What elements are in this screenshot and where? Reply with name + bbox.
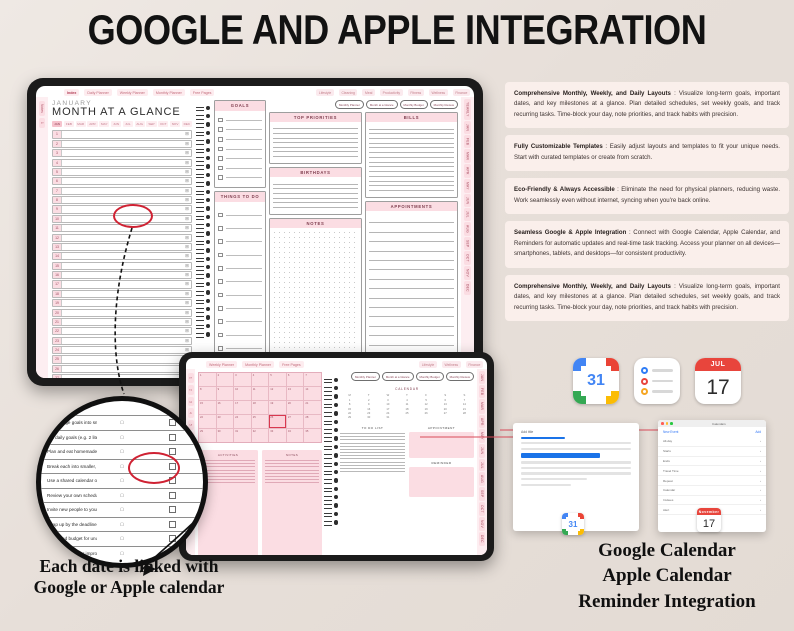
checkbox[interactable]: [218, 127, 223, 132]
checkbox[interactable]: [218, 293, 223, 298]
month-chip-feb[interactable]: FEB: [64, 121, 74, 127]
planner2-rail-page-4[interactable]: 4: [188, 408, 194, 418]
mini-cal-day[interactable]: [417, 416, 436, 420]
calendar-link-icon[interactable]: ⊞: [183, 206, 191, 212]
tab2-free-pages[interactable]: Free Pages: [279, 361, 304, 368]
month-chip-may[interactable]: MAY: [99, 121, 109, 127]
apple-logo-icon[interactable]: : [97, 507, 147, 512]
date-row[interactable]: 19⊞: [52, 299, 192, 307]
month-grid-cell[interactable]: 7: [304, 373, 321, 386]
month-grid-cell[interactable]: 18: [252, 401, 269, 414]
pill-month-at-a-glance[interactable]: Month at a Glance: [382, 372, 414, 381]
section-appointment[interactable]: APPOINTMENT: [409, 426, 474, 458]
date-row[interactable]: 26⊞: [52, 365, 192, 373]
date-row[interactable]: 24⊞: [52, 346, 192, 354]
apple-field-label: Repeat: [663, 479, 673, 483]
panel-things-to-do-body[interactable]: [215, 202, 265, 375]
tab-lifestyle[interactable]: Lifestyle: [316, 89, 334, 96]
apple-logo-icon[interactable]: : [97, 478, 147, 483]
tab-wellness[interactable]: Wellness: [429, 89, 448, 96]
month-grid-cell[interactable]: 13: [287, 387, 304, 400]
apple-field-row[interactable]: Starts›: [658, 447, 766, 457]
spiral-ring: [324, 437, 338, 441]
calendar-link-icon[interactable]: ⊞: [183, 319, 191, 325]
calendar-link-icon[interactable]: ⊞: [183, 263, 191, 269]
mini-calendar[interactable]: MTWTFSS123456789101112131415161718192021…: [340, 394, 474, 420]
month-tab-nov[interactable]: NOV: [479, 517, 485, 531]
month-grid-cell[interactable]: 6: [287, 373, 304, 386]
date-row-list: 1⊞2⊞3⊞4⊞5⊞6⊞7⊞8⊞9⊞10⊞11⊞12⊞13⊞14⊞15⊞16⊞1…: [52, 130, 192, 378]
apple-logo-icon[interactable]: : [97, 464, 147, 469]
ashot-close-icon[interactable]: [661, 422, 664, 425]
calendar-link-icon[interactable]: ⊞: [183, 310, 191, 316]
apple-field-value[interactable]: ›: [760, 479, 761, 483]
month-tab-mar[interactable]: MAR: [479, 399, 485, 413]
month-chip-jun[interactable]: JUN: [111, 121, 121, 127]
calendar-link-icon[interactable]: ⊞: [183, 281, 191, 287]
date-row[interactable]: 13⊞: [52, 243, 192, 251]
checklist-row[interactable]: [218, 333, 262, 338]
month-tab-apr[interactable]: APR: [464, 164, 470, 178]
checklist-row[interactable]: [218, 137, 262, 142]
magnified-task-row[interactable]: Wrap up by the deadline: [41, 517, 203, 532]
mini-cal-day[interactable]: [436, 416, 455, 420]
month-tab-may[interactable]: MAY: [479, 429, 485, 443]
month-chip-sep[interactable]: SEP: [146, 121, 156, 127]
month-tab-dec[interactable]: DEC: [479, 532, 485, 546]
mini-cal-day[interactable]: 29: [340, 416, 359, 420]
magnified-task-row[interactable]: Set daily goals (e.g. 2 liters) e.g. wat…: [41, 430, 203, 445]
spiral-ring: [324, 487, 338, 491]
month-grid-cell[interactable]: 5: [269, 373, 286, 386]
section-notes[interactable]: NOTES: [262, 450, 322, 555]
date-row[interactable]: 14⊞: [52, 252, 192, 260]
month-chip-aug[interactable]: AUG: [135, 121, 145, 127]
month-chip-jul[interactable]: JUL: [123, 121, 133, 127]
checkbox[interactable]: [218, 213, 223, 218]
pill-monthly-planner[interactable]: Monthly Planner: [335, 100, 364, 109]
month-chip-nov[interactable]: NOV: [170, 121, 180, 127]
tab2-lifestyle[interactable]: Lifestyle: [419, 361, 437, 368]
gshot-line-2: [521, 448, 631, 450]
date-row[interactable]: 16⊞: [52, 271, 192, 279]
checkbox[interactable]: [169, 477, 176, 484]
checkbox[interactable]: [169, 419, 176, 426]
apple-logo-icon[interactable]: : [97, 522, 147, 527]
month-grid-cell[interactable]: 24: [234, 415, 251, 428]
date-row[interactable]: 15⊞: [52, 262, 192, 270]
apple-logo-icon[interactable]: : [97, 420, 147, 425]
date-row[interactable]: 5⊞: [52, 168, 192, 176]
ashot-minimize-icon[interactable]: [666, 422, 669, 425]
checkbox[interactable]: [218, 306, 223, 311]
tab-cleaning[interactable]: Cleaning: [339, 89, 358, 96]
reminders-row-3: [641, 388, 673, 395]
apple-field-value[interactable]: ›: [760, 488, 761, 492]
calendar-link-icon[interactable]: ⊞: [183, 235, 191, 241]
apple-logo-icon[interactable]: : [97, 449, 147, 454]
checklist-row[interactable]: [218, 293, 262, 298]
month-grid-cell[interactable]: 2: [217, 373, 234, 386]
month-tab-aug[interactable]: AUG: [479, 472, 485, 486]
tab-fitness[interactable]: Fitness: [408, 89, 424, 96]
checkbox[interactable]: [218, 137, 223, 142]
month-grid-cell[interactable]: 29: [199, 429, 216, 442]
month-tab-mar[interactable]: MAR: [464, 149, 470, 163]
month-tab-oct[interactable]: OCT: [464, 251, 470, 265]
month-tab-nov[interactable]: NOV: [464, 266, 470, 280]
task-checkbox-cell[interactable]: [147, 463, 197, 470]
panel-top-priorities-body[interactable]: [270, 122, 361, 162]
date-row[interactable]: 10⊞: [52, 215, 192, 223]
tab-weekly-planner[interactable]: Weekly Planner: [117, 89, 148, 96]
checkbox[interactable]: [169, 434, 176, 441]
panel-goals-body[interactable]: [215, 111, 265, 187]
calendar-link-icon[interactable]: ⊞: [183, 150, 191, 156]
month-grid-cell[interactable]: 20: [287, 401, 304, 414]
month-chip-jan[interactable]: JAN: [52, 121, 62, 127]
task-checkbox-cell[interactable]: [147, 521, 197, 528]
checkbox[interactable]: [218, 175, 223, 180]
month-grid-cell[interactable]: 34: [287, 429, 304, 442]
month-grid-cell[interactable]: 15: [199, 401, 216, 414]
tab-monthly-planner[interactable]: Monthly Planner: [153, 89, 185, 96]
tab2-monthly-planner[interactable]: Monthly Planner: [242, 361, 274, 368]
tab2-finance[interactable]: Finance: [466, 361, 483, 368]
month-grid-cell[interactable]: 1: [199, 373, 216, 386]
month-tab-jul[interactable]: JUL: [464, 208, 470, 221]
apple-field-value[interactable]: ›: [760, 469, 761, 473]
date-number: 20: [53, 310, 62, 316]
gshot-save-button[interactable]: [521, 453, 600, 458]
pill-monthly-review[interactable]: Monthly Review: [446, 372, 474, 381]
date-number: 21: [53, 319, 62, 325]
magnified-task-row[interactable]: Plan and eat homemade meals 5 times a we…: [41, 444, 203, 459]
apple-field-value[interactable]: ›: [760, 508, 761, 512]
section-activities[interactable]: ACTIVITIES: [198, 450, 258, 555]
date-row[interactable]: 25⊞: [52, 355, 192, 363]
calendar-link-icon[interactable]: ⊞: [183, 197, 191, 203]
tab-index[interactable]: Index: [64, 89, 79, 96]
pill-monthly-budget[interactable]: Monthly Budget: [416, 372, 444, 381]
month-grid-cell[interactable]: 8: [199, 387, 216, 400]
planner2-rail-page-1[interactable]: 1: [188, 373, 194, 383]
checkbox[interactable]: [169, 448, 176, 455]
apple-field-row[interactable]: Calendar›: [658, 486, 766, 496]
calendar-link-icon[interactable]: ⊞: [183, 131, 191, 137]
calendar-link-icon[interactable]: ⊞: [183, 141, 191, 147]
ashot-panel-header: New Event Add: [658, 427, 766, 437]
checklist-row[interactable]: [218, 118, 262, 123]
calendar-link-icon[interactable]: ⊞: [183, 225, 191, 231]
month-grid-cell[interactable]: 30: [217, 429, 234, 442]
month-grid-cell[interactable]: 14: [304, 387, 321, 400]
date-row[interactable]: 17⊞: [52, 280, 192, 288]
month-grid-cell[interactable]: 9: [217, 387, 234, 400]
apple-field-row[interactable]: Ends›: [658, 457, 766, 467]
tab2-wellness[interactable]: Wellness: [442, 361, 461, 368]
month-chip-mar[interactable]: MAR: [76, 121, 86, 127]
ashot-add-button[interactable]: Add: [755, 430, 761, 434]
checkbox[interactable]: [169, 506, 176, 513]
tab-free-pages[interactable]: Free Pages: [190, 89, 215, 96]
month-grid-cell[interactable]: 32: [252, 429, 269, 442]
grid-day-number: 6: [288, 374, 290, 377]
google-calendar-icon[interactable]: 31: [573, 358, 619, 404]
month-grid-cell[interactable]: 25: [252, 415, 269, 428]
checklist-row[interactable]: [218, 346, 262, 351]
magnified-task-row[interactable]: Review your own schedule to stay on top …: [41, 488, 203, 503]
checklist-row[interactable]: [218, 127, 262, 132]
checklist-row[interactable]: [218, 266, 262, 271]
spiral-ring: [324, 403, 338, 407]
month-grid-cell[interactable]: 4: [252, 373, 269, 386]
month-grid-cell[interactable]: 16: [217, 401, 234, 414]
apple-field-row[interactable]: All-day›: [658, 437, 766, 447]
calendar-link-icon[interactable]: ⊞: [183, 160, 191, 166]
checkbox[interactable]: [218, 253, 223, 258]
section-reminder[interactable]: REMINDER: [409, 461, 474, 497]
pill-monthly-review[interactable]: Monthly Review: [430, 100, 458, 109]
month-grid-cell[interactable]: 35: [304, 429, 321, 442]
checkbox[interactable]: [218, 147, 223, 152]
spiral-ring: [196, 307, 210, 311]
checkbox[interactable]: [169, 521, 176, 528]
calendar-link-icon[interactable]: ⊞: [183, 253, 191, 259]
grid-day-number: 24: [235, 416, 238, 419]
month-grid[interactable]: 1234567891011121314151617181920212223242…: [198, 372, 322, 443]
month-grid-cell[interactable]: 33: [269, 429, 286, 442]
month-tab-aug[interactable]: AUG: [464, 222, 470, 236]
write-line: [201, 463, 255, 464]
write-line: [369, 222, 454, 223]
date-row[interactable]: 18⊞: [52, 290, 192, 298]
checkbox[interactable]: [218, 156, 223, 161]
task-checkbox-cell[interactable]: [147, 448, 197, 455]
date-row[interactable]: 4⊞: [52, 159, 192, 167]
task-checkbox-cell[interactable]: [147, 492, 197, 499]
task-text: Break large goals into smaller milestone…: [47, 420, 97, 425]
apple-logo-icon[interactable]: : [97, 536, 147, 541]
calendar-link-icon[interactable]: ⊞: [183, 338, 191, 344]
month-tab-jun[interactable]: JUN: [479, 444, 485, 457]
ashot-zoom-icon[interactable]: [670, 422, 673, 425]
apple-field-value[interactable]: ›: [760, 449, 761, 453]
apple-logo-icon[interactable]: : [97, 551, 147, 556]
month-tab-yearly[interactable]: YEARLY: [464, 99, 470, 120]
tab-finance[interactable]: Finance: [453, 89, 470, 96]
checklist-row[interactable]: [218, 156, 262, 161]
date-row[interactable]: 21⊞: [52, 318, 192, 326]
apple-field-row[interactable]: Repeat›: [658, 476, 766, 486]
calendar-link-icon[interactable]: ⊞: [183, 300, 191, 306]
date-row[interactable]: 1⊞: [52, 130, 192, 138]
month-grid-cell[interactable]: 17: [234, 401, 251, 414]
checklist-row[interactable]: [218, 253, 262, 258]
task-checkbox-cell[interactable]: [147, 477, 197, 484]
checkbox[interactable]: [218, 346, 223, 351]
date-row[interactable]: 22⊞: [52, 327, 192, 335]
apple-field-value[interactable]: ›: [760, 439, 761, 443]
write-line: [226, 168, 262, 169]
month-tab-jul[interactable]: JUL: [479, 459, 485, 472]
checkbox[interactable]: [218, 166, 223, 171]
magnified-task-row[interactable]: Track and budget for unusual expenses: [41, 531, 203, 546]
checklist-row[interactable]: [218, 226, 262, 231]
apple-field-row[interactable]: Invitees›: [658, 496, 766, 506]
panel-birthdays-body[interactable]: [270, 177, 361, 213]
rail-tab-notes[interactable]: Notes: [39, 101, 45, 116]
month-tab-may[interactable]: MAY: [464, 179, 470, 193]
calendar-link-icon[interactable]: ⊞: [183, 188, 191, 194]
grid-day-number: 19: [270, 402, 273, 405]
month-tab-feb[interactable]: FEB: [464, 135, 470, 148]
write-line: [369, 171, 454, 172]
month-grid-cell[interactable]: 19: [269, 401, 286, 414]
apple-field-value[interactable]: ›: [760, 459, 761, 463]
month-tab-jan[interactable]: JAN: [464, 121, 470, 134]
month-tab-sep[interactable]: SEP: [464, 237, 470, 251]
calendar-link-icon[interactable]: ⊞: [183, 169, 191, 175]
mini-cal-day[interactable]: 30: [359, 416, 378, 420]
checklist-row[interactable]: [218, 175, 262, 180]
grid-day-number: 21: [305, 402, 308, 405]
write-line: [369, 176, 454, 177]
date-row[interactable]: 8⊞: [52, 196, 192, 204]
grid-day-number: 26: [270, 416, 273, 419]
month-grid-cell[interactable]: 11: [252, 387, 269, 400]
spiral-ring: [196, 249, 210, 253]
checkbox[interactable]: [218, 266, 223, 271]
month-grid-cell[interactable]: 27: [287, 415, 304, 428]
month-chip-apr[interactable]: APR: [87, 121, 97, 127]
panel-bills-body[interactable]: [366, 122, 457, 196]
month-grid-cell[interactable]: 22: [199, 415, 216, 428]
panel-appointments-body[interactable]: [366, 211, 457, 375]
checkbox[interactable]: [218, 239, 223, 244]
planner2-rail-page-3[interactable]: 3: [188, 397, 194, 407]
checklist-row[interactable]: [218, 279, 262, 284]
apple-logo-icon[interactable]: : [97, 493, 147, 498]
apple-field-value[interactable]: ›: [760, 498, 761, 502]
month-grid-cell[interactable]: 21: [304, 401, 321, 414]
calendar-link-icon[interactable]: ⊞: [183, 328, 191, 334]
date-row[interactable]: 2⊞: [52, 140, 192, 148]
checklist-row[interactable]: [218, 319, 262, 324]
magnified-task-row[interactable]: Break each into smaller, actionable task…: [41, 459, 203, 474]
pill-month-at-a-glance[interactable]: Month at a Glance: [366, 100, 398, 109]
month-grid-cell[interactable]: 23: [217, 415, 234, 428]
checklist-row[interactable]: [218, 239, 262, 244]
month-chip-dec[interactable]: DEC: [182, 121, 192, 127]
rail-tab-page-1[interactable]: 1: [39, 118, 45, 128]
apple-logo-icon[interactable]: : [97, 435, 147, 440]
mini-cal-day[interactable]: [455, 416, 474, 420]
date-row[interactable]: 3⊞: [52, 149, 192, 157]
month-tab-feb[interactable]: FEB: [479, 385, 485, 398]
checkbox[interactable]: [218, 279, 223, 284]
magnified-task-row[interactable]: Break large goals into smaller milestone…: [41, 415, 203, 430]
checkbox[interactable]: [169, 463, 176, 470]
checkbox[interactable]: [218, 226, 223, 231]
checkbox[interactable]: [218, 319, 223, 324]
tab2-weekly-planner[interactable]: Weekly Planner: [206, 361, 237, 368]
pill-monthly-planner[interactable]: Monthly Planner: [351, 372, 380, 381]
checkbox[interactable]: [218, 333, 223, 338]
mini-cal-day[interactable]: 31: [378, 416, 397, 420]
write-line: [265, 460, 319, 461]
appointment-box[interactable]: [409, 432, 474, 458]
task-checkbox-cell[interactable]: [147, 506, 197, 513]
reminder-box[interactable]: [409, 467, 474, 497]
calendar-link-icon[interactable]: ⊞: [183, 178, 191, 184]
magnified-task-row[interactable]: Invite new people to your event or allow…: [41, 502, 203, 517]
checkbox[interactable]: [218, 118, 223, 123]
mini-cal-day[interactable]: [397, 416, 416, 420]
calendar-link-icon[interactable]: ⊞: [183, 272, 191, 278]
month-tab-sep[interactable]: SEP: [479, 487, 485, 501]
month-grid-cell[interactable]: 10: [234, 387, 251, 400]
checklist-row[interactable]: [218, 306, 262, 311]
month-tab-dec[interactable]: DEC: [464, 281, 470, 295]
tab-daily-planner[interactable]: Daily Planner: [84, 89, 111, 96]
magnified-task-row[interactable]: Use a shared calendar or app to monitor …: [41, 473, 203, 488]
date-row[interactable]: 7⊞: [52, 187, 192, 195]
month-grid-cell[interactable]: 26: [269, 415, 286, 428]
apple-field-row[interactable]: Travel Time›: [658, 466, 766, 476]
planner2-tab-bar: Weekly Planner Monthly Planner Free Page…: [186, 358, 487, 369]
notes-lines: [265, 460, 319, 483]
date-row[interactable]: 12⊞: [52, 234, 192, 242]
month-grid-cell[interactable]: 12: [269, 387, 286, 400]
calendar-link-icon[interactable]: ⊞: [183, 216, 191, 222]
apple-calendar-icon[interactable]: JUL 17: [695, 358, 741, 404]
date-row[interactable]: 6⊞: [52, 177, 192, 185]
panel-birthdays-header: BIRTHDAYS: [270, 168, 361, 178]
month-tab-apr[interactable]: APR: [479, 415, 485, 429]
date-row[interactable]: 20⊞: [52, 309, 192, 317]
planner2-rail-page-2[interactable]: 2: [188, 385, 194, 395]
apple-reminders-icon[interactable]: [634, 358, 680, 404]
calendar-link-icon[interactable]: ⊞: [183, 291, 191, 297]
date-number: 13: [53, 244, 62, 250]
checklist-row[interactable]: [218, 213, 262, 218]
checkbox[interactable]: [169, 492, 176, 499]
month-tab-oct[interactable]: OCT: [479, 502, 485, 516]
pill-monthly-budget[interactable]: Monthly Budget: [400, 100, 428, 109]
checkbox[interactable]: [169, 535, 176, 542]
date-row[interactable]: 23⊞: [52, 337, 192, 345]
write-line: [369, 157, 454, 158]
write-line: [369, 316, 454, 317]
checklist-row[interactable]: [218, 147, 262, 152]
month-tab-jun[interactable]: JUN: [464, 194, 470, 207]
month-grid-cell[interactable]: 31: [234, 429, 251, 442]
month-chip-oct[interactable]: OCT: [158, 121, 168, 127]
month-grid-cell[interactable]: 3: [234, 373, 251, 386]
task-checkbox-cell[interactable]: [147, 434, 197, 441]
date-row[interactable]: 27⊞: [52, 374, 192, 378]
date-row[interactable]: 9⊞: [52, 205, 192, 213]
date-row[interactable]: 11⊞: [52, 224, 192, 232]
section-todo[interactable]: TO DO LIST: [340, 426, 405, 555]
month-tab-jan[interactable]: JAN: [479, 371, 485, 384]
checklist-row[interactable]: [218, 166, 262, 171]
calendar-link-icon[interactable]: ⊞: [183, 244, 191, 250]
tab-productivity[interactable]: Productivity: [380, 89, 403, 96]
tab-meal[interactable]: Meal: [362, 89, 375, 96]
month-grid-cell[interactable]: 28: [304, 415, 321, 428]
